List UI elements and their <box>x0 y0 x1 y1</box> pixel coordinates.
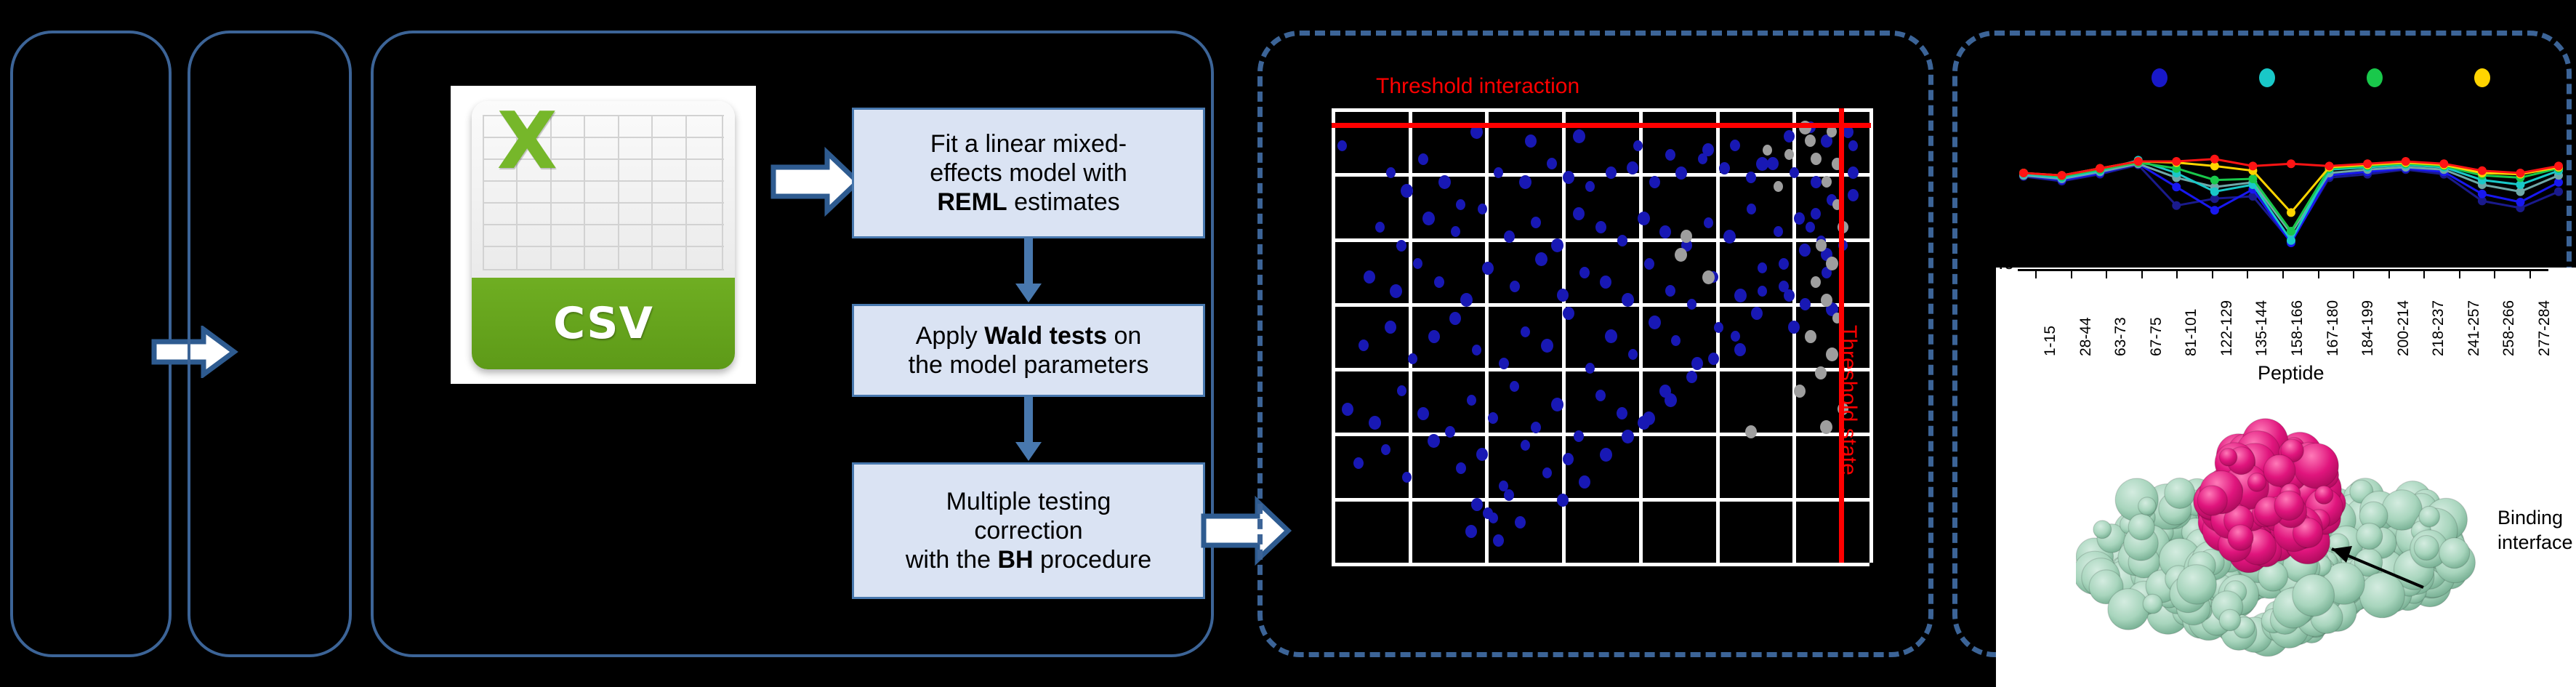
scatter-point-significant <box>1622 293 1634 307</box>
scatter-point-significant <box>1531 217 1541 228</box>
protein-surface-blob <box>2143 594 2162 614</box>
scatter-point-significant <box>1579 475 1590 489</box>
peptide-axis-tick <box>2388 269 2390 278</box>
scatter-point-significant <box>1547 158 1557 169</box>
scatter-point-significant <box>1800 298 1811 310</box>
peptide-series-point <box>2172 157 2181 166</box>
scatter-point-significant <box>1418 153 1428 165</box>
scatter-point-significant <box>1675 166 1687 180</box>
scatter-point-significant <box>1691 357 1703 370</box>
peptide-tick-label: 167-180 <box>2325 300 2342 356</box>
scatter-point-significant <box>1606 166 1617 179</box>
scatter-point-nonsignificant <box>1816 239 1827 252</box>
scatter-point-significant <box>1731 331 1740 342</box>
scatter-point-significant <box>1456 462 1466 474</box>
reml-model-box: Fit a linear mixed-effects model with RE… <box>852 108 1205 238</box>
scatter-point-significant <box>1643 411 1655 425</box>
peptide-line-chart <box>2006 138 2576 269</box>
peptide-axis-tick <box>2318 269 2319 278</box>
peptide-tick-label: 258-266 <box>2500 300 2518 356</box>
scatter-point-significant <box>1622 430 1634 443</box>
scatter-point-significant <box>1493 534 1504 547</box>
peptide-y-tick-label: 0.0 <box>1996 268 2015 274</box>
scatter-point-significant <box>1531 422 1541 433</box>
scatter-point-significant <box>1758 286 1767 297</box>
peptide-tick-label: 277-284 <box>2536 300 2553 356</box>
threshold-interaction-line <box>1332 123 1871 128</box>
scatter-point-significant <box>1600 448 1612 462</box>
scatter-point-significant <box>1385 321 1396 334</box>
scatter-point-significant <box>1434 276 1444 288</box>
scatter-point-significant <box>1665 393 1677 407</box>
scatter-point-significant <box>1627 161 1638 174</box>
gridline-v <box>1869 108 1873 563</box>
scatter-point-nonsignificant <box>1811 276 1821 288</box>
scatter-point-significant <box>1422 212 1435 225</box>
peptide-legend-dot <box>2259 68 2275 87</box>
scatter-point-significant <box>1353 457 1364 469</box>
peptide-series-point <box>2172 182 2181 191</box>
scatter-point-significant <box>1488 412 1498 424</box>
scatter-point-significant <box>1359 340 1369 351</box>
scatter-point-nonsignificant <box>1794 385 1806 398</box>
protein-surface-blob <box>2128 514 2154 540</box>
volcano-scatter-plot: Threshold interaction Threshold state <box>1301 67 1897 598</box>
scatter-point-nonsignificant <box>1805 134 1816 147</box>
peptide-tick-label: 81-101 <box>2183 309 2200 356</box>
scatter-point-significant <box>1671 335 1681 346</box>
scatter-point-significant <box>1451 226 1460 237</box>
scatter-point-significant <box>1730 140 1740 151</box>
scatter-point-significant <box>1483 507 1493 519</box>
scatter-point-significant <box>1482 262 1494 275</box>
scatter-point-significant <box>1504 230 1515 243</box>
scatter-point-significant <box>1734 289 1747 302</box>
peptide-tick-label: 122-129 <box>2218 300 2236 356</box>
scatter-point-significant <box>1519 175 1531 189</box>
peptide-axis-tick <box>2141 269 2143 278</box>
peptide-axis-tick <box>2423 269 2425 278</box>
scatter-point-significant <box>1445 426 1455 438</box>
scatter-point-significant <box>1734 343 1746 356</box>
peptide-surface-blob <box>2228 525 2253 550</box>
scatter-point-significant <box>1686 371 1697 383</box>
protein-surface-blob <box>2138 497 2157 515</box>
peptide-tick-label: 241-257 <box>2466 300 2483 356</box>
peptide-tick-label: 135-144 <box>2253 300 2271 356</box>
scatter-point-significant <box>1551 238 1563 252</box>
scatter-point-significant <box>1375 222 1385 233</box>
peptide-series-point <box>2210 155 2219 164</box>
peptide-axis-tick <box>2035 269 2037 278</box>
scatter-point-significant <box>1784 130 1795 142</box>
peptide-series-point <box>2439 159 2448 168</box>
scatter-point-significant <box>1413 258 1422 269</box>
scatter-point-significant <box>1848 189 1859 201</box>
scatter-point-significant <box>1551 398 1563 411</box>
scatter-point-significant <box>1460 293 1473 307</box>
peptide-series-point <box>2248 174 2257 183</box>
scatter-point-significant <box>1390 284 1402 298</box>
scatter-point-significant <box>1723 230 1736 244</box>
peptide-surface-blob <box>2197 486 2227 515</box>
peptide-series-point <box>2058 171 2066 180</box>
scatter-point-significant <box>1767 157 1779 170</box>
scatter-point-significant <box>1521 440 1530 451</box>
scatter-point-nonsignificant <box>1811 153 1822 165</box>
scatter-point-significant <box>1790 167 1799 178</box>
peptide-surface-blob <box>2315 486 2333 504</box>
scatter-point-significant <box>1788 321 1800 334</box>
scatter-point-significant <box>1579 267 1590 278</box>
scatter-point-significant <box>1595 221 1606 233</box>
peptide-series-point <box>2516 198 2524 206</box>
peptide-legend-dot <box>2474 68 2490 87</box>
peptide-legend <box>2006 67 2576 96</box>
peptide-structure-panel: 1-1528-4463-7367-7581-101122-129135-1441… <box>1996 268 2576 687</box>
scatter-point-nonsignificant <box>1774 181 1783 192</box>
scatter-point-nonsignificant <box>1820 420 1832 434</box>
protein-surface-blob <box>2177 565 2216 604</box>
scatter-point-significant <box>1605 329 1617 343</box>
peptide-axis-tick <box>2494 269 2495 278</box>
scatter-point-significant <box>1494 167 1503 178</box>
peptide-series-point <box>2287 227 2295 236</box>
scatter-point-significant <box>1525 134 1537 148</box>
bh-correction-box-text: Multiple testingcorrectionwith the BH pr… <box>906 487 1151 574</box>
csv-file-stage-panel <box>188 31 352 657</box>
scatter-point-significant <box>1617 407 1627 419</box>
scatter-point-significant <box>1585 181 1595 192</box>
scatter-point-significant <box>1799 244 1811 257</box>
scatter-point-significant <box>1806 222 1815 233</box>
scatter-point-significant <box>1364 270 1375 284</box>
protein-structure-image <box>2076 400 2483 662</box>
scatter-point-nonsignificant <box>1675 248 1687 262</box>
peptide-series-point <box>2516 169 2524 177</box>
scatter-point-significant <box>1659 225 1671 238</box>
peptide-series-point <box>2554 161 2563 170</box>
scatter-point-significant <box>1428 330 1440 343</box>
scatter-point-significant <box>1535 252 1547 266</box>
peptide-axis-tick <box>2212 269 2213 278</box>
peptide-series-point <box>2363 159 2372 168</box>
scatter-point-significant <box>1563 453 1574 465</box>
scatter-point-nonsignificant <box>1784 149 1794 160</box>
scatter-point-significant <box>1698 153 1707 164</box>
peptide-axis-tick <box>2176 269 2178 278</box>
scatter-point-significant <box>1381 444 1390 455</box>
scatter-point-significant <box>1386 167 1396 178</box>
scatter-point-significant <box>1758 262 1767 273</box>
peptide-axis-tick <box>2459 269 2460 278</box>
scatter-point-significant <box>1557 289 1569 302</box>
scatter-point-significant <box>1756 157 1768 171</box>
scatter-point-significant <box>1573 129 1585 143</box>
peptide-series-point <box>2402 157 2410 166</box>
scatter-point-significant <box>1449 312 1461 325</box>
scatter-point-significant <box>1617 235 1627 246</box>
scatter-point-nonsignificant <box>1815 366 1827 379</box>
scatter-points-layer <box>1332 108 1869 563</box>
scatter-point-nonsignificant <box>1821 294 1832 307</box>
peptide-series-point <box>2325 161 2334 170</box>
peptide-series-point <box>2134 157 2143 166</box>
scatter-point-significant <box>1397 385 1406 396</box>
scatter-point-significant <box>1428 434 1440 448</box>
scatter-point-significant <box>1719 162 1730 174</box>
peptide-tick-label: 184-199 <box>2359 300 2377 356</box>
peptide-tick-label: 63-73 <box>2112 317 2130 356</box>
scatter-point-significant <box>1510 381 1519 392</box>
scatter-point-significant <box>1714 322 1723 333</box>
peptide-series-point <box>2287 159 2295 168</box>
scatter-point-significant <box>1774 226 1783 237</box>
scatter-point-significant <box>1342 403 1353 416</box>
peptide-axis-ticks <box>2018 269 2548 279</box>
peptide-series-point <box>2096 164 2104 173</box>
peptide-axis-tick <box>2529 269 2531 278</box>
threshold-state-label: Threshold state <box>1836 325 1861 475</box>
scatter-point-significant <box>1396 240 1406 252</box>
peptide-axis-ticklabels: 1-1528-4463-7367-7581-101122-129135-1441… <box>2018 281 2548 361</box>
input-stage-panel <box>10 31 172 657</box>
scatter-point-nonsignificant <box>1805 330 1816 343</box>
peptide-series-point <box>2248 161 2257 170</box>
peptide-series-point <box>2210 188 2219 196</box>
scatter-point-significant <box>1848 166 1859 179</box>
peptide-series-point <box>2478 166 2487 175</box>
peptide-surface-blob <box>2274 491 2304 521</box>
peptide-tick-label: 218-237 <box>2430 300 2447 356</box>
scatter-point-nonsignificant <box>1702 270 1715 284</box>
peptide-legend-dot <box>2152 68 2168 87</box>
scatter-point-significant <box>1747 204 1756 214</box>
scatter-point-significant <box>1784 289 1795 302</box>
protein-surface-blob <box>2414 536 2439 561</box>
scatter-point-nonsignificant <box>1826 257 1838 270</box>
reml-model-box-text: Fit a linear mixed-effects model with RE… <box>930 129 1127 217</box>
peptide-series-point <box>2287 236 2295 245</box>
peptide-axis-tick <box>2106 269 2107 278</box>
peptide-series-point <box>2019 169 2028 177</box>
wald-tests-box-text: Apply Wald tests onthe model parameters <box>909 321 1149 379</box>
scatter-point-significant <box>1504 489 1514 501</box>
peptide-surface-blob <box>2247 473 2266 491</box>
scatter-point-significant <box>1557 494 1569 507</box>
scatter-point-significant <box>1563 171 1574 184</box>
protein-surface-blob <box>2439 538 2470 569</box>
scatter-point-significant <box>1401 184 1413 198</box>
peptide-tick-label: 28-44 <box>2077 317 2095 356</box>
scatter-point-significant <box>1515 516 1526 529</box>
bh-correction-box: Multiple testingcorrectionwith the BH pr… <box>852 462 1205 599</box>
scatter-point-significant <box>1665 149 1675 161</box>
scatter-point-significant <box>1472 345 1481 355</box>
gridline-h <box>1332 563 1869 566</box>
peptide-surface-blob <box>2263 455 2295 487</box>
protein-surface-blob <box>2359 573 2404 618</box>
scatter-point-significant <box>1542 467 1552 478</box>
peptide-axis-tick <box>2247 269 2248 278</box>
scatter-point-significant <box>1644 258 1654 270</box>
peptide-series-point <box>2287 208 2295 217</box>
scatter-point-nonsignificant <box>1822 176 1832 188</box>
protein-surface-blob <box>2293 574 2335 616</box>
peptide-series-point <box>2210 176 2219 185</box>
scatter-point-significant <box>1779 258 1789 270</box>
scatter-point-significant <box>1408 353 1417 364</box>
peptide-axis-tick <box>2353 269 2354 278</box>
scatter-point-significant <box>1848 140 1858 151</box>
scatter-point-significant <box>1456 199 1465 210</box>
scatter-point-significant <box>1337 140 1347 151</box>
flow-arrow-box1-box2 <box>1014 238 1043 304</box>
scatter-point-significant <box>1751 307 1763 320</box>
peptide-series-point <box>2210 206 2219 214</box>
scatter-point-significant <box>1811 176 1822 188</box>
scatter-point-significant <box>1600 276 1611 289</box>
peptide-axis-tick <box>2071 269 2072 278</box>
peptide-axis-tick <box>2282 269 2284 278</box>
protein-surface-blob <box>2108 589 2149 630</box>
scatter-point-nonsignificant <box>1763 145 1772 156</box>
peptide-legend-dot <box>2367 68 2383 87</box>
scatter-point-significant <box>1499 358 1509 369</box>
scatter-point-significant <box>1417 407 1429 420</box>
peptide-tick-label: 158-166 <box>2289 300 2306 356</box>
peptide-tick-label: 67-75 <box>2148 317 2165 356</box>
scatter-point-significant <box>1585 363 1595 374</box>
peptide-series-point <box>2478 190 2487 198</box>
protein-surface-blob <box>2419 506 2439 526</box>
scatter-point-significant <box>1402 472 1412 483</box>
scatter-point-nonsignificant <box>1745 425 1757 438</box>
scatter-point-significant <box>1633 140 1643 151</box>
wald-tests-box: Apply Wald tests onthe model parameters <box>852 304 1205 397</box>
scatter-point-significant <box>1794 212 1805 225</box>
scatter-point-significant <box>1704 217 1713 228</box>
scatter-point-significant <box>1708 353 1719 365</box>
scatter-point-significant <box>1649 316 1661 329</box>
protein-surface-blob <box>2356 523 2383 550</box>
scatter-point-significant <box>1638 212 1650 225</box>
scatter-point-significant <box>1574 430 1584 442</box>
peptide-tick-label: 200-214 <box>2395 300 2412 356</box>
scatter-point-significant <box>1521 326 1530 337</box>
scatter-point-significant <box>1438 175 1451 189</box>
scatter-point-significant <box>1476 448 1488 461</box>
scatter-point-significant <box>1478 204 1487 214</box>
scatter-point-significant <box>1665 285 1675 297</box>
binding-interface-line2: interface <box>2497 532 2573 554</box>
flow-arrow-box2-box3 <box>1014 397 1043 462</box>
scatter-point-significant <box>1746 172 1756 183</box>
scatter-point-significant <box>1649 176 1660 188</box>
peptide-axis-title: Peptide <box>2258 362 2325 385</box>
scatter-point-significant <box>1595 390 1606 401</box>
scatter-point-significant <box>1465 525 1477 538</box>
protein-surface-blob <box>2093 521 2112 539</box>
peptide-surface-blob <box>2219 449 2237 466</box>
scatter-point-significant <box>1369 416 1381 430</box>
scatter-point-significant <box>1510 281 1520 292</box>
scatter-point-significant <box>1573 207 1585 220</box>
threshold-interaction-label: Threshold interaction <box>1376 74 1579 99</box>
protein-surface-blob <box>2219 609 2240 630</box>
peptide-series-point <box>2172 201 2181 210</box>
scatter-point-significant <box>1628 349 1638 360</box>
scatter-point-significant <box>1541 339 1553 353</box>
scatter-point-significant <box>1563 307 1574 320</box>
scatter-point-significant <box>1687 299 1696 310</box>
peptide-tick-label: 1-15 <box>2042 326 2059 356</box>
binding-interface-line1: Binding <box>2497 507 2563 529</box>
scatter-point-significant <box>1811 208 1821 220</box>
protein-surface-blob <box>2165 478 2195 509</box>
scatter-point-significant <box>1471 498 1483 511</box>
scatter-point-significant <box>1467 395 1476 406</box>
peptide-series-point <box>2554 188 2563 196</box>
